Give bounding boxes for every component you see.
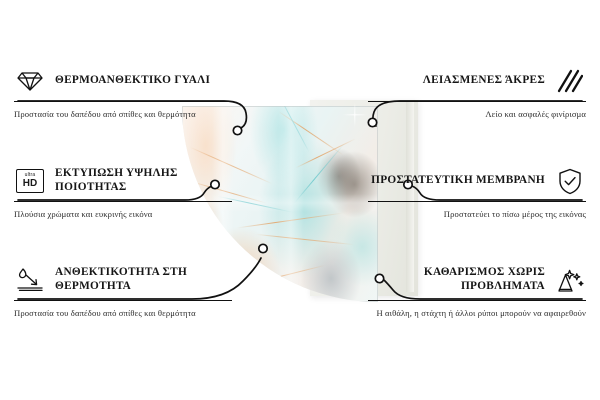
connector-node (259, 244, 267, 252)
flame-deflect-icon (14, 265, 46, 295)
infographic-canvas: ΘΕΡΜΟΑΝΘΕΚΤΙΚΟ ΓΥΑΛΙ Προστασία του δαπέδ… (0, 0, 600, 400)
feature-header: ΚΑΘΑΡΙΣΜΟΣ ΧΩΡΙΣ ΠΡΟΒΛΗΜΑΤΑ (368, 263, 586, 297)
feature-rule (368, 201, 586, 202)
ultra-hd-badge-bottom: HD (23, 179, 37, 189)
feature-protective-membrane: ΠΡΟΣΤΑΤΕΥΤΙΚΗ ΜΕΜΒΡΑΝΗ Προστατεύει το πί… (368, 164, 586, 221)
diamond-icon (14, 66, 46, 96)
sparkle-cloth-icon (554, 265, 586, 295)
feature-rule (368, 101, 586, 102)
shield-check-icon (554, 166, 586, 196)
feature-title: ΛΕΙΑΣΜΕΝΕΣ ΆΚΡΕΣ (423, 74, 545, 88)
feature-rule (14, 101, 232, 102)
feature-title: ΑΝΘΕΚΤΙΚΟΤΗΤΑ ΣΤΗ ΘΕΡΜΟΤΗΤΑ (55, 266, 232, 294)
feature-description: Προστασία του δαπέδου από σπίθες και θερ… (14, 108, 232, 121)
feature-easy-cleaning: ΚΑΘΑΡΙΣΜΟΣ ΧΩΡΙΣ ΠΡΟΒΛΗΜΑΤΑ Η αιθάλη, η … (368, 263, 586, 320)
feature-description: Πλούσια χρώματα και ευκρινής εικόνα (14, 208, 232, 221)
feature-header: ΑΝΘΕΚΤΙΚΟΤΗΤΑ ΣΤΗ ΘΕΡΜΟΤΗΤΑ (14, 263, 232, 297)
feature-title: ΠΡΟΣΤΑΤΕΥΤΙΚΗ ΜΕΜΒΡΑΝΗ (371, 174, 545, 188)
diagonal-stripes-icon (554, 66, 586, 96)
feature-heat-durability: ΑΝΘΕΚΤΙΚΟΤΗΤΑ ΣΤΗ ΘΕΡΜΟΤΗΤΑ Προστασία το… (14, 263, 232, 320)
ultra-hd-icon: ultra HD (14, 166, 46, 196)
feature-heat-resistant-glass: ΘΕΡΜΟΑΝΘΕΚΤΙΚΟ ΓΥΑΛΙ Προστασία του δαπέδ… (14, 64, 232, 121)
feature-rule (14, 201, 232, 202)
feature-high-quality-print: ultra HD ΕΚΤΥΠΩΣΗ ΥΨΗΛΗΣ ΠΟΙΟΤΗΤΑΣ Πλούσ… (14, 164, 232, 221)
feature-rule (368, 300, 586, 301)
feature-title: ΘΕΡΜΟΑΝΘΕΚΤΙΚΟ ΓΥΑΛΙ (55, 74, 210, 88)
feature-header: ultra HD ΕΚΤΥΠΩΣΗ ΥΨΗΛΗΣ ΠΟΙΟΤΗΤΑΣ (14, 164, 232, 198)
feature-rule (14, 300, 232, 301)
feature-header: ΘΕΡΜΟΑΝΘΕΚΤΙΚΟ ΓΥΑΛΙ (14, 64, 232, 98)
connector-node (233, 126, 241, 134)
feature-description: Προστασία του δαπέδου από σπίθες και θερ… (14, 307, 232, 320)
feature-description: Προστατεύει το πίσω μέρος της εικόνας (368, 208, 586, 221)
ultra-hd-badge: ultra HD (16, 169, 44, 193)
feature-header: ΠΡΟΣΤΑΤΕΥΤΙΚΗ ΜΕΜΒΡΑΝΗ (368, 164, 586, 198)
feature-description: Λείο και ασφαλές φινίρισμα (368, 108, 586, 121)
feature-header: ΛΕΙΑΣΜΕΝΕΣ ΆΚΡΕΣ (368, 64, 586, 98)
feature-description: Η αιθάλη, η στάχτη ή άλλοι ρύποι μπορούν… (368, 307, 586, 320)
feature-title: ΕΚΤΥΠΩΣΗ ΥΨΗΛΗΣ ΠΟΙΟΤΗΤΑΣ (55, 167, 232, 195)
feature-title: ΚΑΘΑΡΙΣΜΟΣ ΧΩΡΙΣ ΠΡΟΒΛΗΜΑΤΑ (368, 266, 545, 294)
feature-polished-edges: ΛΕΙΑΣΜΕΝΕΣ ΆΚΡΕΣ Λείο και ασφαλές φινίρι… (368, 64, 586, 121)
